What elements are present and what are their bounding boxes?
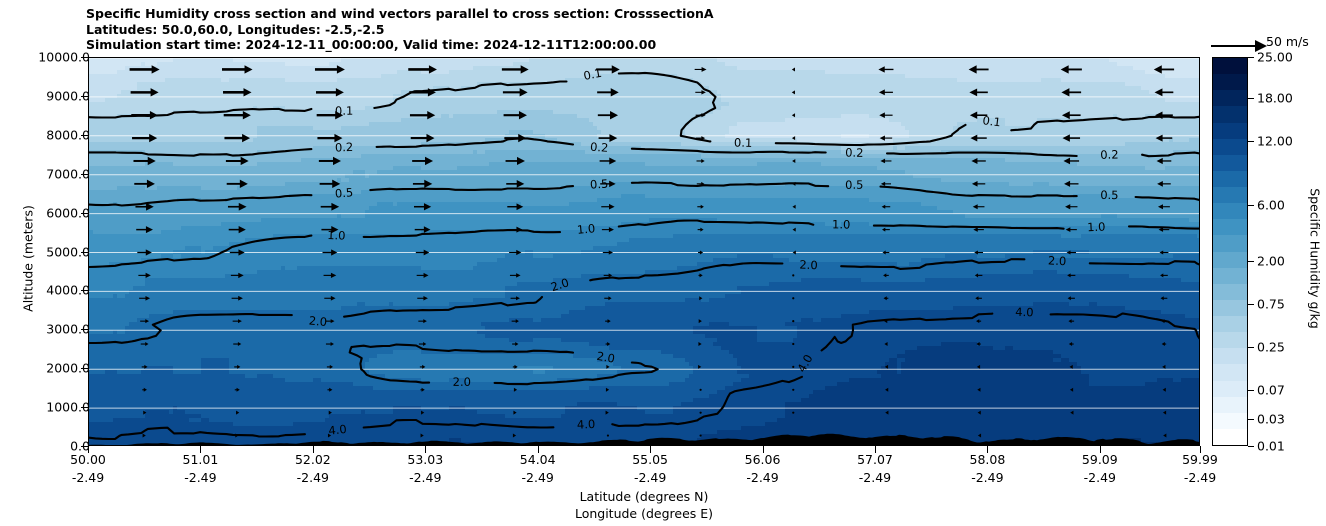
chart-title-line-2: Latitudes: 50.0,60.0, Longitudes: -2.5,-… <box>86 22 1186 38</box>
y-tick-label: 10000.0 <box>38 50 90 65</box>
contour-label: 2.0 <box>799 258 818 273</box>
colorbar-band <box>1213 139 1247 155</box>
colorbar-tick-mark <box>1248 446 1254 447</box>
y-tick-label: 1000.0 <box>46 400 90 415</box>
chart-title-block: Specific Humidity cross section and wind… <box>86 6 1186 53</box>
contour-label: 0.1 <box>982 113 1002 129</box>
contour-label: 0.1 <box>582 66 603 83</box>
colorbar-band <box>1213 300 1247 316</box>
wind-vector-key: 50 m/s <box>1209 36 1326 56</box>
contour-label-layer: 0.10.10.10.10.20.20.20.20.50.50.50.51.01… <box>89 58 1199 445</box>
x-tick-label-longitude: -2.49 <box>72 470 104 485</box>
x-tick-label-latitude: 50.00 <box>70 452 106 467</box>
contour-label: 0.1 <box>734 136 753 150</box>
colorbar-band <box>1213 187 1247 203</box>
x-axis-label-latitude: Latitude (degrees N) <box>0 489 1288 504</box>
colorbar-band <box>1213 332 1247 348</box>
colorbar-tick-mark <box>1248 141 1254 142</box>
colorbar-tick-mark <box>1248 98 1254 99</box>
x-tick-label-longitude: -2.49 <box>297 470 329 485</box>
colorbar[interactable] <box>1212 57 1248 446</box>
cross-section-plot[interactable]: 0.10.10.10.10.20.20.20.20.50.50.50.51.01… <box>88 57 1200 446</box>
colorbar-band <box>1213 155 1247 171</box>
chart-title-line-1: Specific Humidity cross section and wind… <box>86 6 1186 22</box>
colorbar-tick-label: 0.01 <box>1257 439 1285 454</box>
contour-label: 0.5 <box>845 178 863 192</box>
colorbar-band <box>1213 284 1247 300</box>
x-tick-label-longitude: -2.49 <box>409 470 441 485</box>
colorbar-tick-label: 6.00 <box>1257 197 1285 212</box>
colorbar-band <box>1213 252 1247 268</box>
y-tick-label: 5000.0 <box>46 244 90 259</box>
contour-label: 0.5 <box>590 177 609 192</box>
colorbar-tick-mark <box>1248 261 1254 262</box>
contour-label: 2.0 <box>596 349 616 366</box>
x-tick-label-longitude: -2.49 <box>1184 470 1216 485</box>
x-tick-label-latitude: 56.06 <box>745 452 781 467</box>
colorbar-band <box>1213 348 1247 364</box>
colorbar-tick-mark <box>1248 304 1254 305</box>
x-tick-label-longitude: -2.49 <box>1084 470 1116 485</box>
plot-clip-area: 0.10.10.10.10.20.20.20.20.50.50.50.51.01… <box>89 58 1199 445</box>
colorbar-band <box>1213 90 1247 106</box>
colorbar-band <box>1213 429 1247 445</box>
contour-label: 2.0 <box>308 313 328 329</box>
x-tick-label-latitude: 59.99 <box>1182 452 1218 467</box>
x-axis-label-longitude: Longitude (degrees E) <box>0 506 1288 521</box>
colorbar-tick-mark <box>1248 419 1254 420</box>
x-tick-label-longitude: -2.49 <box>746 470 778 485</box>
colorbar-band <box>1213 58 1247 74</box>
colorbar-tick-mark <box>1248 57 1254 58</box>
colorbar-band <box>1213 381 1247 397</box>
colorbar-tick-mark <box>1248 347 1254 348</box>
contour-label: 0.1 <box>335 104 353 118</box>
colorbar-band <box>1213 235 1247 251</box>
colorbar-tick-label: 0.07 <box>1257 382 1285 397</box>
colorbar-band <box>1213 203 1247 219</box>
y-tick-label: 8000.0 <box>46 127 90 142</box>
colorbar-band <box>1213 364 1247 380</box>
x-tick-label-longitude: -2.49 <box>634 470 666 485</box>
colorbar-tick-mark <box>1248 205 1254 206</box>
colorbar-tick-label: 12.00 <box>1257 133 1293 148</box>
chart-root: Specific Humidity cross section and wind… <box>0 0 1326 526</box>
colorbar-band <box>1213 219 1247 235</box>
x-tick-label-latitude: 54.04 <box>520 452 556 467</box>
colorbar-tick-label: 0.75 <box>1257 297 1285 312</box>
x-tick-label-latitude: 55.05 <box>632 452 668 467</box>
colorbar-band <box>1213 106 1247 122</box>
contour-label: 4.0 <box>794 352 815 375</box>
x-tick-label-latitude: 53.03 <box>407 452 443 467</box>
colorbar-tick-mark <box>1248 390 1254 391</box>
colorbar-band <box>1213 171 1247 187</box>
contour-label: 4.0 <box>328 422 348 438</box>
x-tick-label-latitude: 57.07 <box>857 452 893 467</box>
contour-label: 1.0 <box>327 228 346 243</box>
x-tick-label-latitude: 52.02 <box>295 452 331 467</box>
x-tick-label-latitude: 58.08 <box>969 452 1005 467</box>
colorbar-band <box>1213 74 1247 90</box>
contour-label: 1.0 <box>1087 220 1106 235</box>
contour-label: 2.0 <box>453 375 471 389</box>
colorbar-band <box>1213 413 1247 429</box>
chart-title-line-3: Simulation start time: 2024-12-11_00:00:… <box>86 37 1186 53</box>
contour-label: 1.0 <box>576 221 595 237</box>
y-tick-label: 2000.0 <box>46 361 90 376</box>
x-tick-label-latitude: 59.09 <box>1082 452 1118 467</box>
x-tick-label-longitude: -2.49 <box>971 470 1003 485</box>
contour-label: 2.0 <box>549 275 571 294</box>
y-tick-label: 7000.0 <box>46 166 90 181</box>
colorbar-title: Specific Humidity g/kg <box>1308 129 1323 389</box>
y-tick-label: 6000.0 <box>46 205 90 220</box>
wind-vector-key-label: 50 m/s <box>1266 34 1309 49</box>
colorbar-band <box>1213 268 1247 284</box>
contour-label: 4.0 <box>577 417 596 432</box>
contour-label: 0.2 <box>845 146 864 160</box>
colorbar-tick-label: 0.03 <box>1257 411 1285 426</box>
contour-label: 4.0 <box>1015 305 1034 320</box>
contour-label: 0.2 <box>590 140 609 155</box>
y-tick-label: 4000.0 <box>46 283 90 298</box>
x-tick-label-longitude: -2.49 <box>184 470 216 485</box>
colorbar-tick-label: 0.25 <box>1257 339 1285 354</box>
x-tick-label-longitude: -2.49 <box>859 470 891 485</box>
y-axis-label: Altitude (meters) <box>21 139 36 379</box>
y-tick-label: 3000.0 <box>46 322 90 337</box>
contour-label: 1.0 <box>832 217 850 231</box>
contour-label: 0.2 <box>1100 147 1119 161</box>
colorbar-band <box>1213 397 1247 413</box>
x-tick-label-longitude: -2.49 <box>522 470 554 485</box>
colorbar-band <box>1213 123 1247 139</box>
x-tick-label-latitude: 51.01 <box>183 452 219 467</box>
colorbar-band <box>1213 316 1247 332</box>
contour-label: 0.5 <box>1100 188 1119 202</box>
arrow-right-icon <box>1209 36 1269 56</box>
contour-label: 0.5 <box>334 185 353 200</box>
y-tick-label: 9000.0 <box>46 88 90 103</box>
colorbar-tick-label: 18.00 <box>1257 90 1293 105</box>
colorbar-tick-label: 2.00 <box>1257 254 1285 269</box>
contour-label: 0.2 <box>335 140 354 155</box>
contour-label: 2.0 <box>1048 253 1067 268</box>
